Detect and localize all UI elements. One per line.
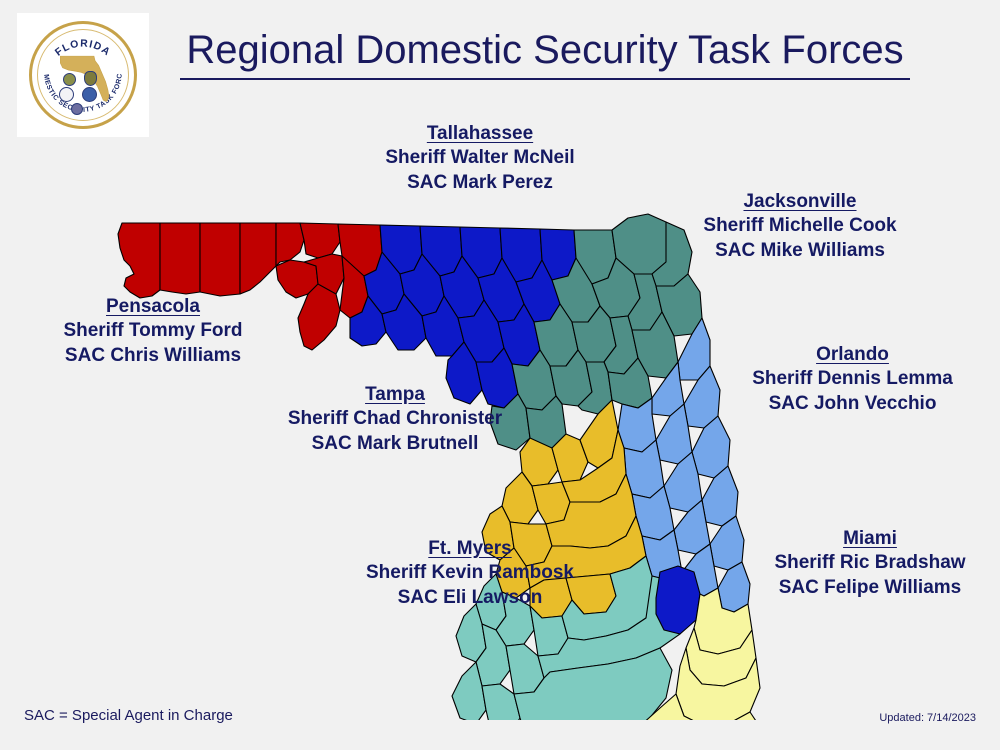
region-sac-jacksonville: SAC Mike Williams xyxy=(650,239,950,263)
region-label-pensacola: Pensacola Sheriff Tommy Ford SAC Chris W… xyxy=(8,295,298,368)
region-sheriff-ftmyers: Sheriff Kevin Rambosk xyxy=(320,561,620,585)
region-sheriff-jacksonville: Sheriff Michelle Cook xyxy=(650,214,950,238)
region-sac-miami: SAC Felipe Williams xyxy=(740,576,1000,600)
police-shield-badge-icon xyxy=(84,71,97,86)
region-city-pensacola: Pensacola xyxy=(8,295,298,319)
region-sac-tallahassee: SAC Mark Perez xyxy=(330,171,630,195)
region-sheriff-pensacola: Sheriff Tommy Ford xyxy=(8,319,298,343)
region-sheriff-orlando: Sheriff Dennis Lemma xyxy=(710,367,995,391)
footer-updated-date: Updated: 7/14/2023 xyxy=(879,712,976,724)
ems-star-of-life-icon xyxy=(82,87,97,102)
title-block: Regional Domestic Security Task Forces xyxy=(180,28,910,80)
region-shape-highlight-county[interactable] xyxy=(656,566,700,634)
region-label-ftmyers: Ft. Myers Sheriff Kevin Rambosk SAC Eli … xyxy=(320,537,620,610)
florida-region-map-svg[interactable] xyxy=(100,200,800,720)
footer-legend: SAC = Special Agent in Charge xyxy=(24,707,233,724)
florida-dstf-seal-icon: FLORIDA DOMESTIC SECURITY TASK FORCES xyxy=(29,21,137,129)
florida-map[interactable] xyxy=(100,200,800,720)
region-label-miami: Miami Sheriff Ric Bradshaw SAC Felipe Wi… xyxy=(740,527,1000,600)
sheriff-star-badge-icon xyxy=(63,73,76,86)
region-city-ftmyers: Ft. Myers xyxy=(320,537,620,561)
region-sheriff-tallahassee: Sheriff Walter McNeil xyxy=(330,146,630,170)
region-city-jacksonville: Jacksonville xyxy=(650,190,950,214)
region-sac-orlando: SAC John Vecchio xyxy=(710,392,995,416)
page-title: Regional Domestic Security Task Forces xyxy=(180,28,910,72)
region-sac-ftmyers: SAC Eli Lawson xyxy=(320,586,620,610)
region-sheriff-tampa: Sheriff Chad Chronister xyxy=(245,407,545,431)
region-city-tallahassee: Tallahassee xyxy=(330,122,630,146)
region-label-jacksonville: Jacksonville Sheriff Michelle Cook SAC M… xyxy=(650,190,950,263)
logo-card: FLORIDA DOMESTIC SECURITY TASK FORCES xyxy=(17,13,149,137)
region-city-orlando: Orlando xyxy=(710,343,995,367)
medical-caduceus-icon xyxy=(71,103,83,115)
slide-canvas: FLORIDA DOMESTIC SECURITY TASK FORCES Re… xyxy=(0,0,1000,750)
title-underline-rule xyxy=(180,78,910,80)
region-label-orlando: Orlando Sheriff Dennis Lemma SAC John Ve… xyxy=(710,343,995,416)
fire-rescue-badge-icon xyxy=(59,87,74,102)
region-label-tallahassee: Tallahassee Sheriff Walter McNeil SAC Ma… xyxy=(330,122,630,195)
region-label-tampa: Tampa Sheriff Chad Chronister SAC Mark B… xyxy=(245,383,545,456)
region-city-miami: Miami xyxy=(740,527,1000,551)
region-city-tampa: Tampa xyxy=(245,383,545,407)
region-sac-tampa: SAC Mark Brutnell xyxy=(245,432,545,456)
region-sheriff-miami: Sheriff Ric Bradshaw xyxy=(740,551,1000,575)
region-sac-pensacola: SAC Chris Williams xyxy=(8,344,298,368)
